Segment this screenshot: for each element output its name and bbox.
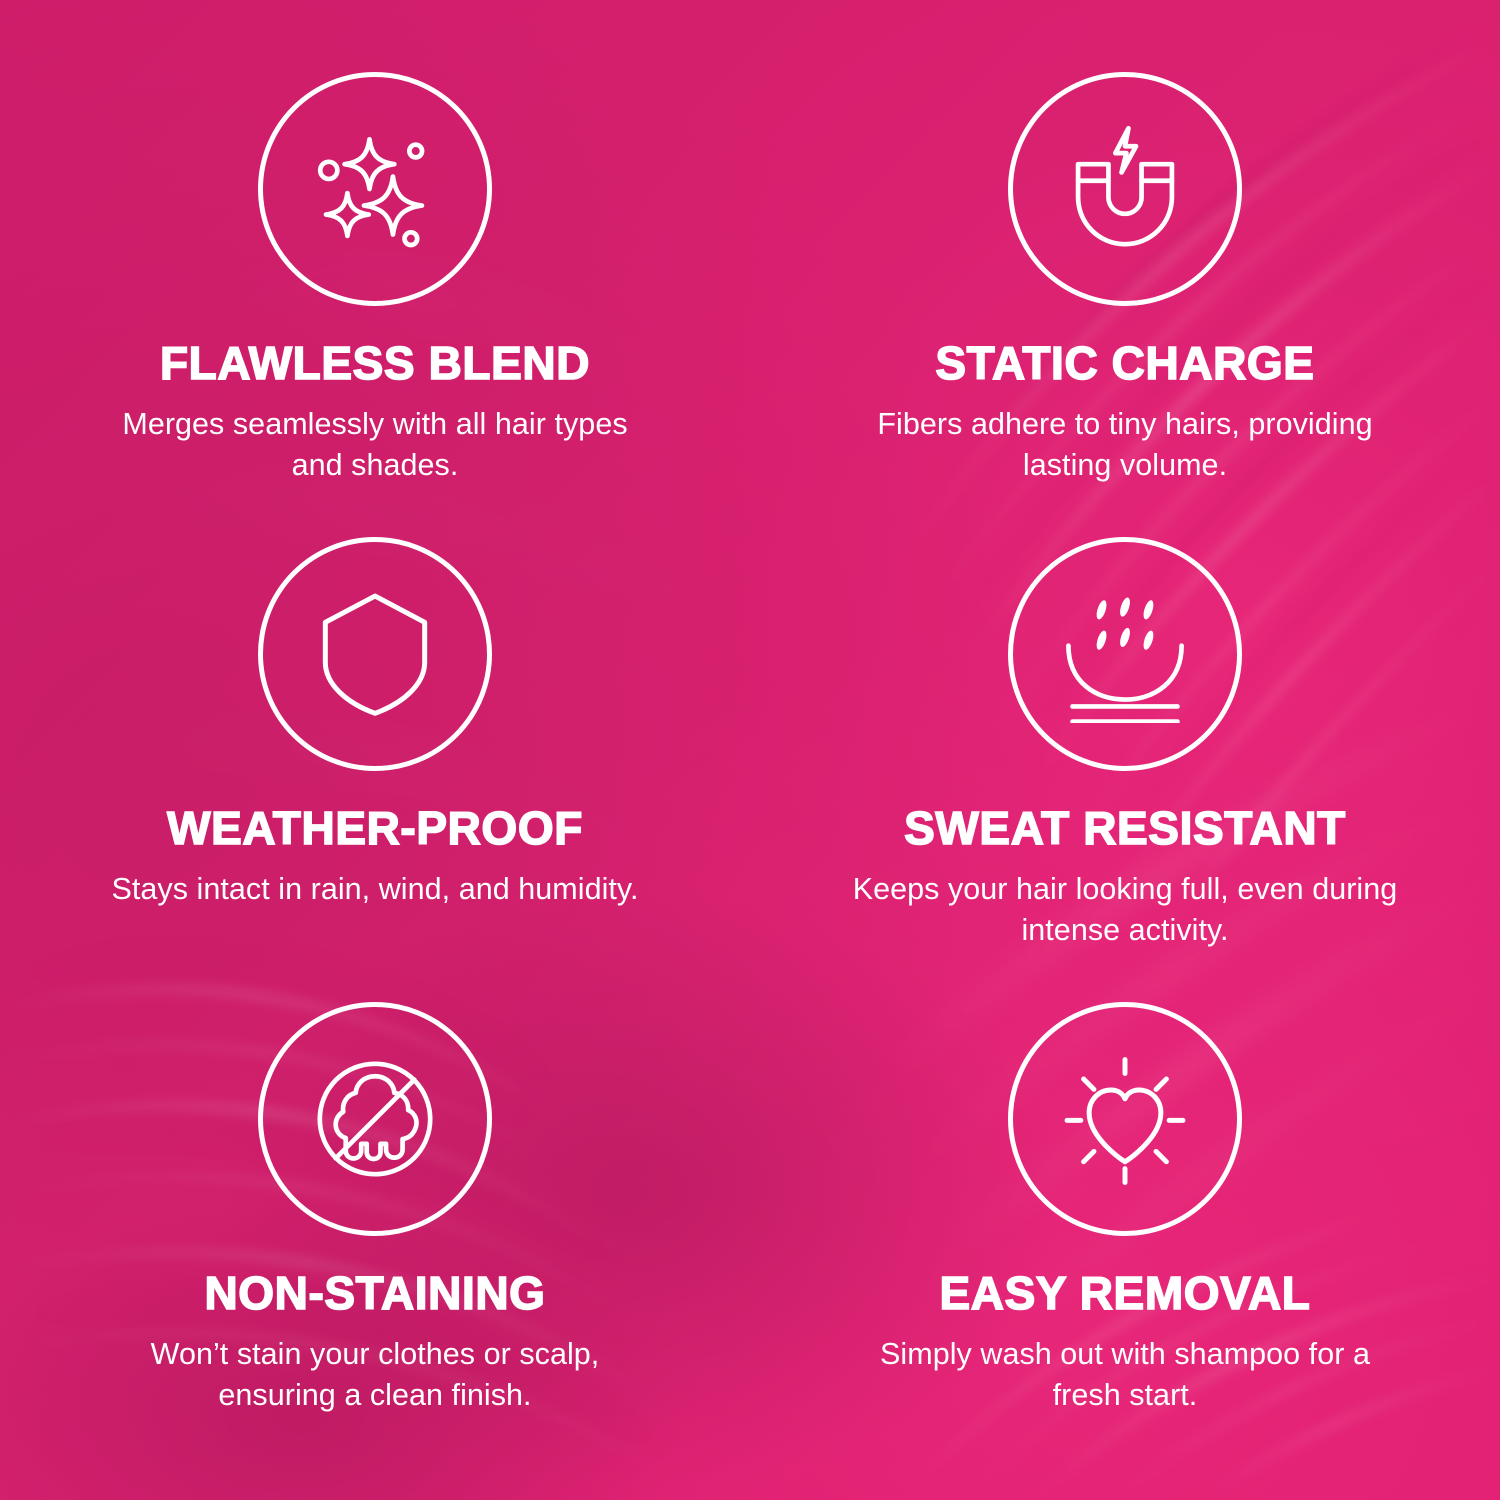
feature-card-weather-proof: WEATHER-PROOF Stays intact in rain, wind… — [0, 465, 750, 930]
icon-medallion — [258, 72, 492, 306]
icon-medallion — [1008, 1002, 1242, 1236]
feature-card-sweat-resistant: SWEAT RESISTANT Keeps your hair looking … — [750, 465, 1500, 930]
feature-card-non-staining: NON-STAINING Won’t stain your clothes or… — [0, 930, 750, 1500]
icon-medallion — [1008, 72, 1242, 306]
magnet-static-icon — [1056, 120, 1194, 258]
feature-title: WEATHER-PROOF — [167, 805, 583, 852]
feature-card-easy-removal: EASY REMOVAL Simply wash out with shampo… — [750, 930, 1500, 1500]
feature-title: STATIC CHARGE — [935, 340, 1314, 387]
feature-grid: FLAWLESS BLEND Merges seamlessly with al… — [0, 0, 1500, 1500]
feature-card-static-charge: STATIC CHARGE Fibers adhere to tiny hair… — [750, 0, 1500, 465]
feature-title: NON-STAINING — [204, 1270, 545, 1317]
feature-description: Stays intact in rain, wind, and humidity… — [111, 869, 638, 910]
no-stain-icon — [306, 1050, 444, 1188]
feature-description: Won’t stain your clothes or scalp, ensur… — [95, 1334, 655, 1416]
feature-description: Simply wash out with shampoo for a fresh… — [845, 1334, 1405, 1416]
shield-icon — [306, 585, 444, 723]
feature-card-flawless-blend: FLAWLESS BLEND Merges seamlessly with al… — [0, 0, 750, 465]
shining-heart-icon — [1056, 1050, 1194, 1188]
feature-title: FLAWLESS BLEND — [160, 340, 590, 387]
water-repellent-icon — [1056, 585, 1194, 723]
feature-title: SWEAT RESISTANT — [904, 805, 1346, 852]
feature-title: EASY REMOVAL — [940, 1270, 1311, 1317]
icon-medallion — [1008, 537, 1242, 771]
icon-medallion — [258, 537, 492, 771]
icon-medallion — [258, 1002, 492, 1236]
sparkles-icon — [306, 120, 444, 258]
